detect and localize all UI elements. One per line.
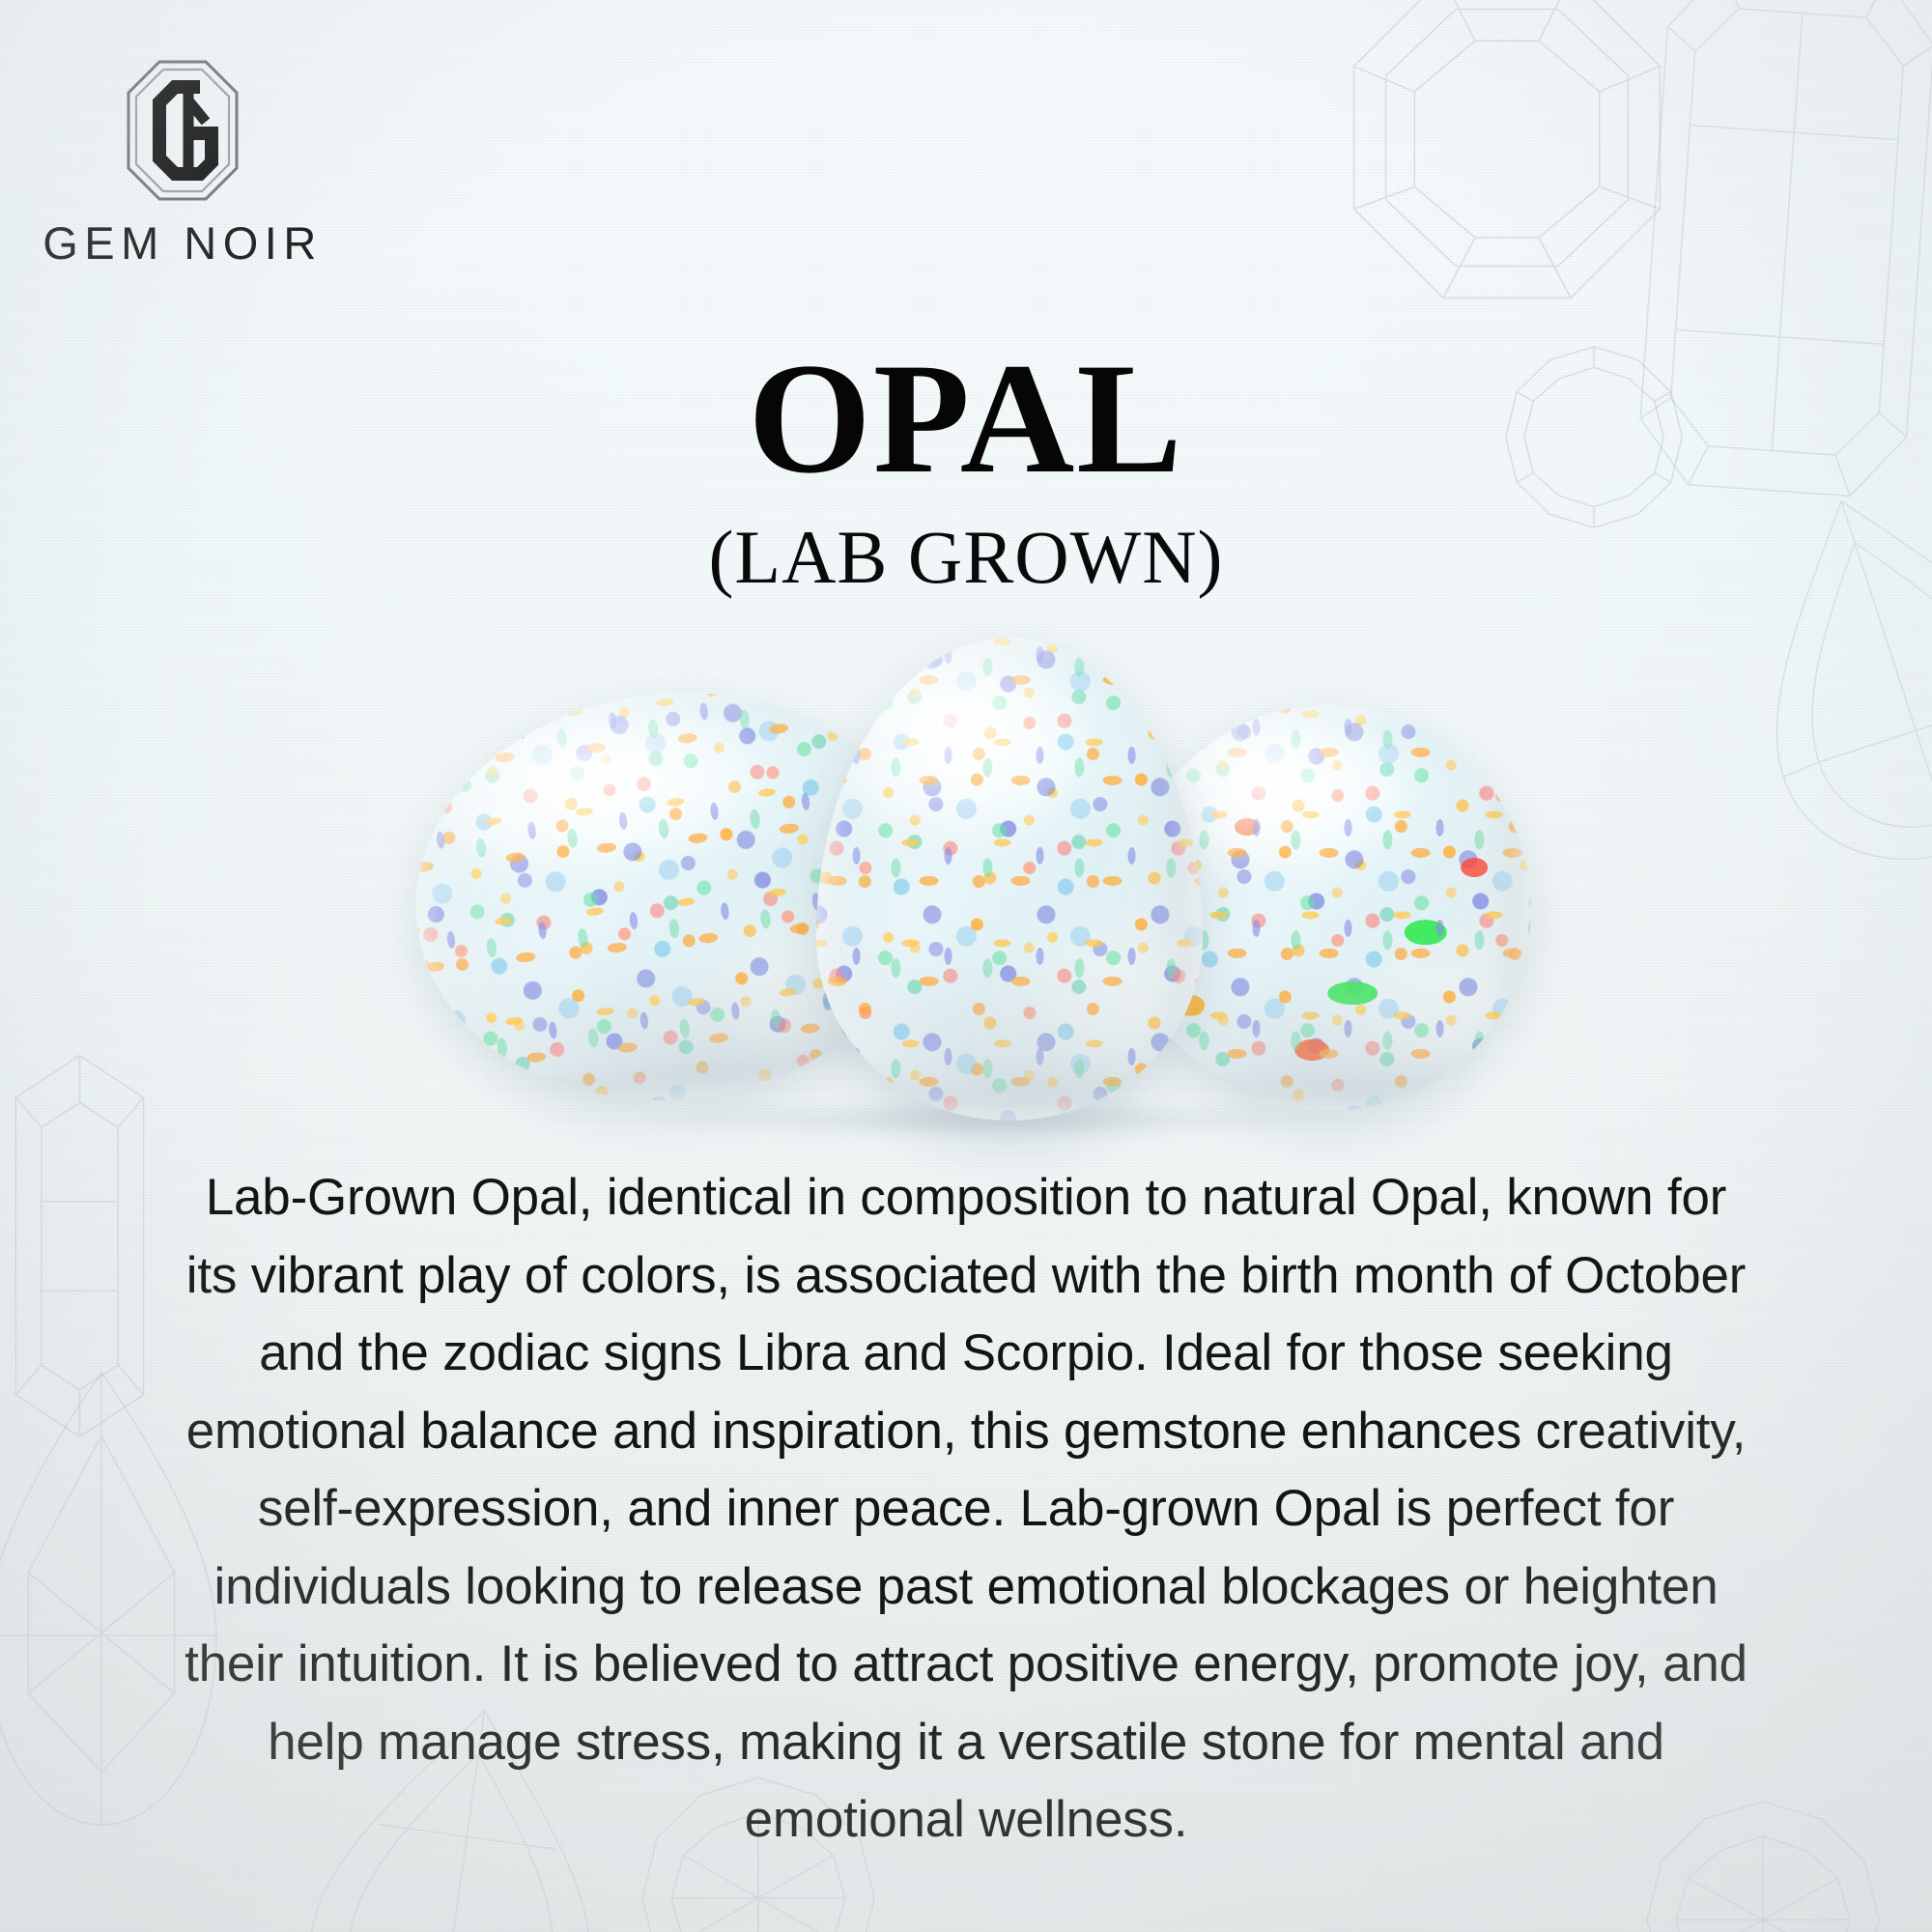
gemstone-image-group xyxy=(0,638,1932,1169)
heading-block: OPAL (LAB GROWN) xyxy=(0,340,1932,595)
octagon-cut-gem-watermark xyxy=(1348,0,1666,304)
page-subtitle: (LAB GROWN) xyxy=(0,520,1932,595)
brand-logo[interactable]: GEM NOIR xyxy=(43,58,323,270)
brand-wordmark: GEM NOIR xyxy=(43,216,323,270)
gemstone-info-poster: GEM NOIR OPAL (LAB GROWN) xyxy=(0,0,1932,1932)
pear-cabochon-center xyxy=(816,638,1203,1121)
gem-noir-octagon-monogram-icon xyxy=(125,58,241,203)
page-title: OPAL xyxy=(0,340,1932,498)
gemstone-description: Lab-Grown Opal, identical in composition… xyxy=(174,1159,1758,1860)
